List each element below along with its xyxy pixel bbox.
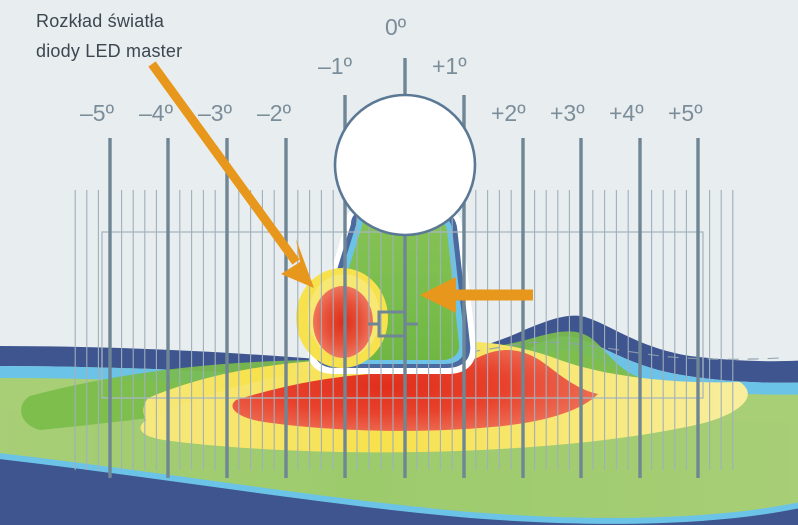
axis-label-plus2deg: +2º: [491, 100, 526, 127]
axis-label-plus1deg: +1º: [432, 53, 467, 80]
axis-label-minus4deg: –4º: [139, 100, 173, 127]
axis-label-minus5deg: –5º: [80, 100, 114, 127]
axis-label-plus4deg: +4º: [609, 100, 644, 127]
axis-label-minus2deg: –2º: [257, 100, 291, 127]
axis-label-plus5deg: +5º: [668, 100, 703, 127]
axis-label-minus3deg: –3º: [198, 100, 232, 127]
axis-label-plus3deg: +3º: [550, 100, 585, 127]
page-title: Rozkład światła diody LED master: [36, 6, 336, 66]
light-distribution-diagram: Rozkład światła diody LED master –5º–4º–…: [0, 0, 798, 525]
diagram-canvas: [0, 0, 798, 525]
beam-cone-red-core: [313, 286, 373, 358]
axis-label-0deg: 0º: [385, 14, 406, 41]
led-lens-circle: [335, 95, 475, 235]
axis-label-minus1deg: –1º: [318, 53, 352, 80]
